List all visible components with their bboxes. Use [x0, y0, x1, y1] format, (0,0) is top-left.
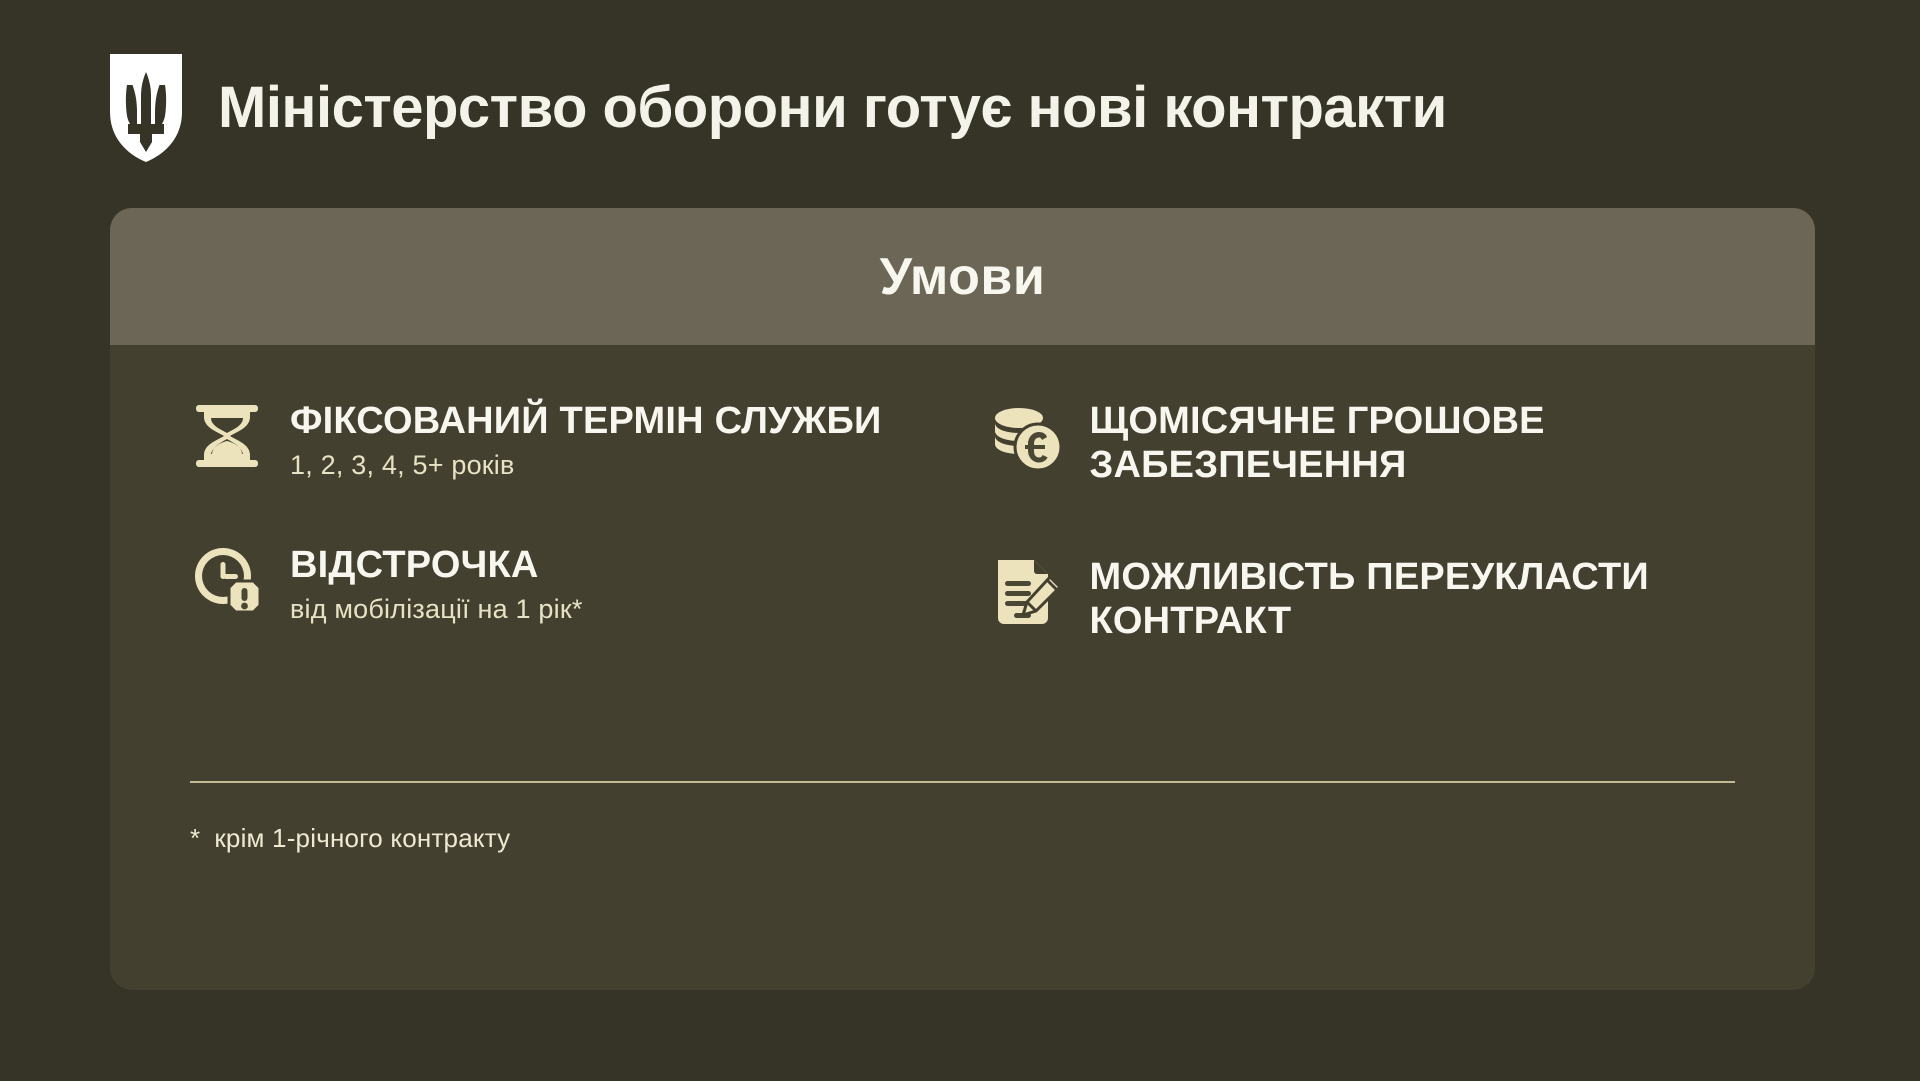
feature-subtitle: 1, 2, 3, 4, 5+ років — [290, 449, 882, 481]
footnote-marker: * — [190, 825, 200, 851]
page-title: Міністерство оборони готує нові контракт… — [218, 78, 1447, 139]
footnote-text: крім 1-річного контракту — [214, 823, 510, 854]
features-grid: ФІКСОВАНИЙ ТЕРМІН СЛУЖБИ 1, 2, 3, 4, 5+ … — [190, 397, 1735, 643]
feature-title: ЩОМІСЯЧНЕ ГРОШОВЕ ЗАБЕЗПЕЧЕННЯ — [1090, 399, 1736, 487]
feature-text: МОЖЛИВІСТЬ ПЕРЕУКЛАСТИ КОНТРАКТ — [1090, 553, 1736, 643]
feature-monthly-allowance: ЩОМІСЯЧНЕ ГРОШОВЕ ЗАБЕЗПЕЧЕННЯ — [990, 397, 1736, 487]
conditions-card: Умови — [110, 208, 1815, 990]
coins-hryvnia-icon — [990, 399, 1064, 473]
card-body: ФІКСОВАНИЙ ТЕРМІН СЛУЖБИ 1, 2, 3, 4, 5+ … — [110, 345, 1815, 990]
feature-deferment: ВІДСТРОЧКА від мобілізації на 1 рік* — [190, 541, 936, 643]
feature-title: ФІКСОВАНИЙ ТЕРМІН СЛУЖБИ — [290, 399, 882, 443]
card-header-band: Умови — [110, 208, 1815, 345]
feature-title: МОЖЛИВІСТЬ ПЕРЕУКЛАСТИ КОНТРАКТ — [1090, 555, 1736, 643]
footnote: * крім 1-річного контракту — [190, 823, 510, 854]
hourglass-icon — [190, 399, 264, 473]
feature-text: ЩОМІСЯЧНЕ ГРОШОВЕ ЗАБЕЗПЕЧЕННЯ — [1090, 397, 1736, 487]
document-pencil-icon — [990, 555, 1064, 629]
ukraine-ministry-of-defence-shield-emblem — [110, 54, 182, 162]
feature-text: ФІКСОВАНИЙ ТЕРМІН СЛУЖБИ 1, 2, 3, 4, 5+ … — [290, 397, 882, 481]
feature-title: ВІДСТРОЧКА — [290, 543, 583, 587]
footnote-divider — [190, 781, 1735, 783]
feature-subtitle: від мобілізації на 1 рік* — [290, 593, 583, 625]
clock-alert-icon — [190, 543, 264, 617]
feature-recontract: МОЖЛИВІСТЬ ПЕРЕУКЛАСТИ КОНТРАКТ — [990, 553, 1736, 643]
feature-text: ВІДСТРОЧКА від мобілізації на 1 рік* — [290, 541, 583, 625]
poster-header: Міністерство оборони готує нові контракт… — [110, 48, 1447, 168]
card-header-title: Умови — [880, 247, 1046, 307]
infographic-poster: Міністерство оборони готує нові контракт… — [0, 0, 1920, 1081]
feature-fixed-term: ФІКСОВАНИЙ ТЕРМІН СЛУЖБИ 1, 2, 3, 4, 5+ … — [190, 397, 936, 487]
